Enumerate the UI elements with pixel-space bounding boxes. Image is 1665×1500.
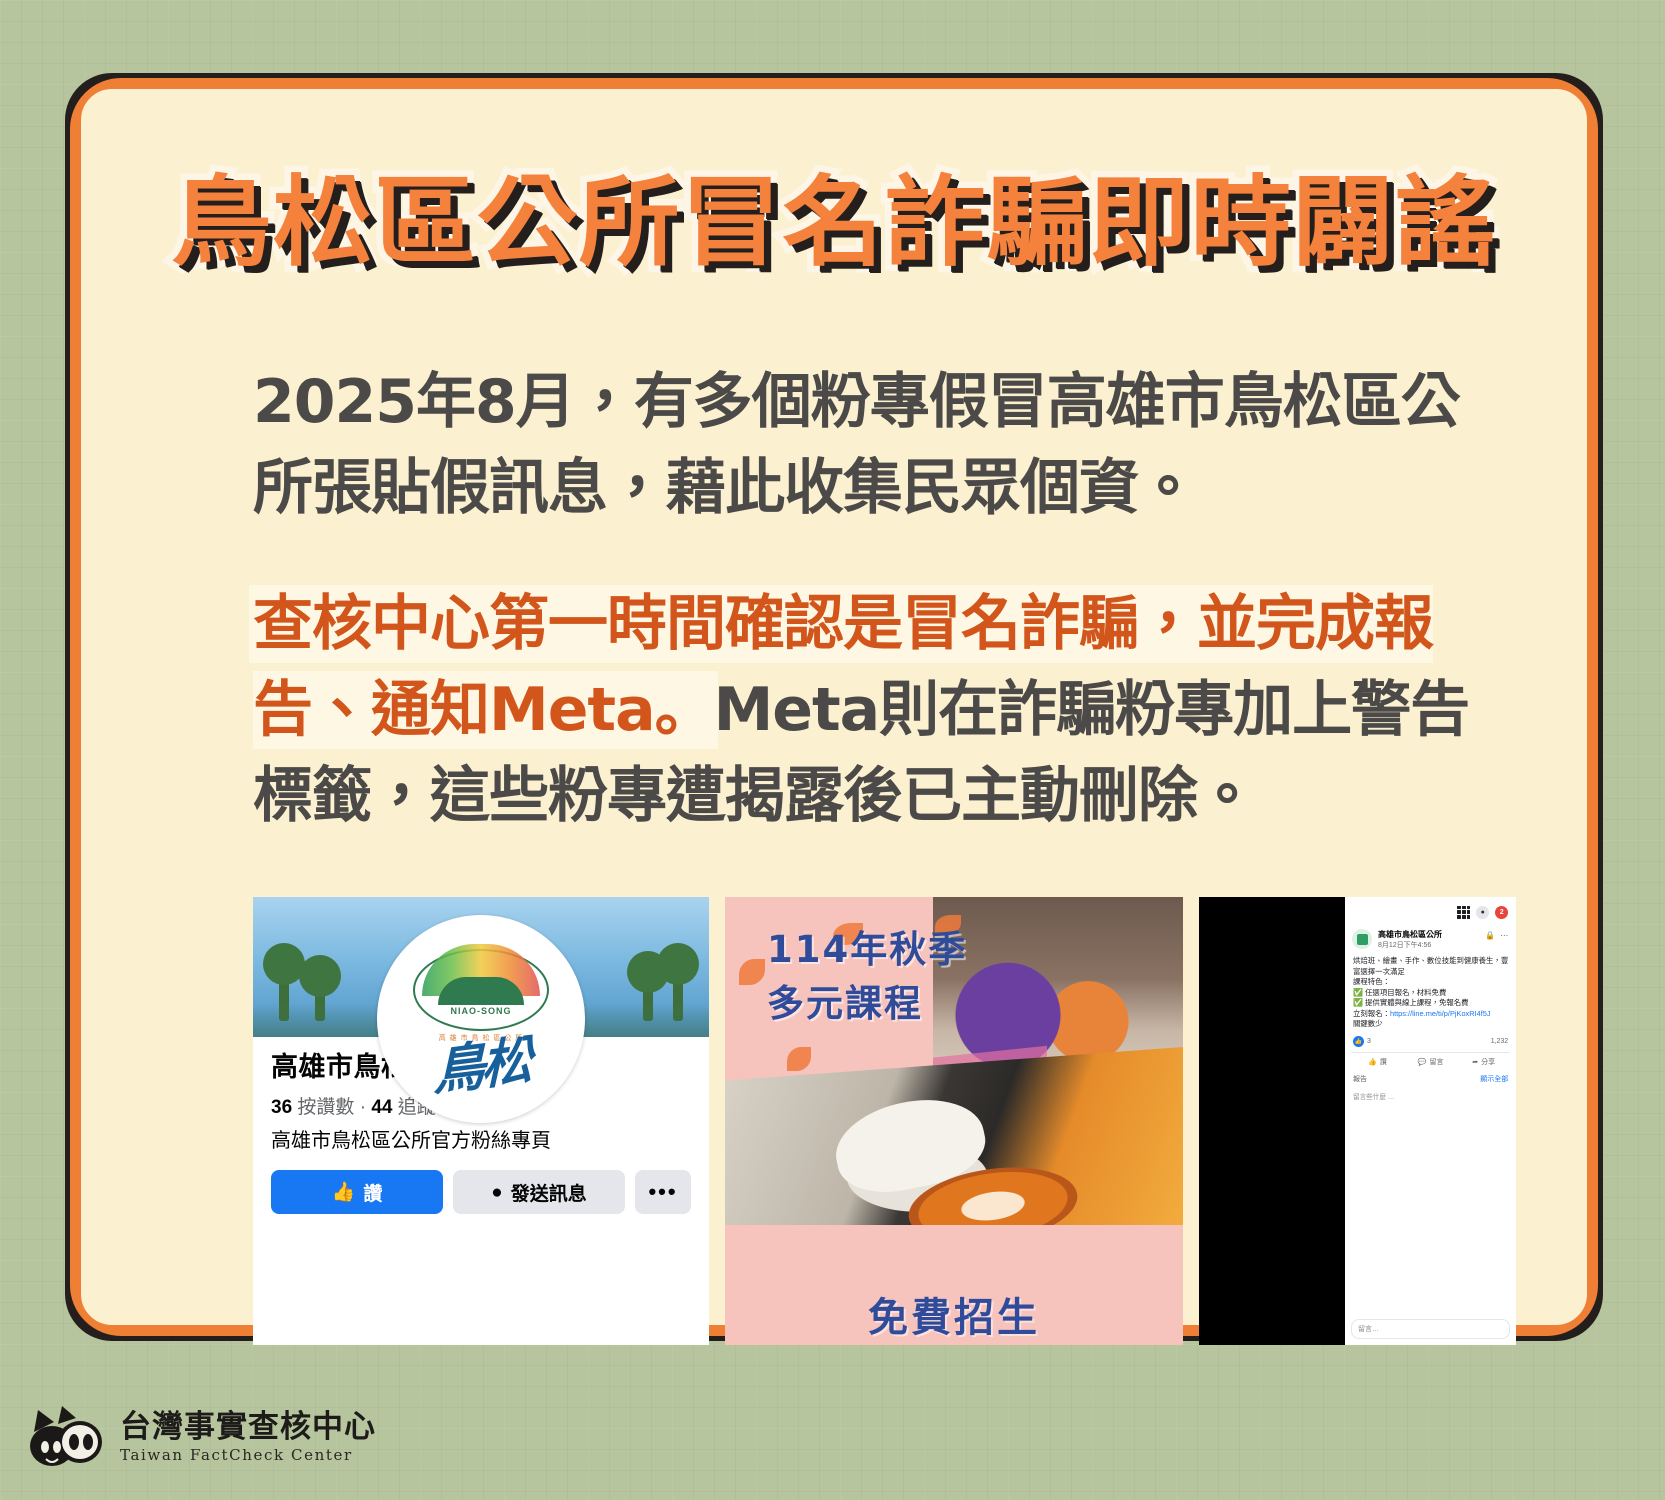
message-button[interactable]: ● 發送訊息 — [453, 1170, 625, 1214]
post-like-label: 讚 — [1380, 1057, 1387, 1067]
post-author-name[interactable]: 高雄市鳥松區公所 — [1378, 929, 1442, 940]
post-body: 烘焙班、繪畫、手作、數位技能到健康養生，豐 富選擇一次滿足 課程特色： ✅ 任選… — [1345, 951, 1516, 1030]
comment-prompt[interactable]: 留言些什麼 … — [1353, 1091, 1508, 1101]
check-icon: ✅ — [1353, 988, 1363, 997]
post-header: 高雄市鳥松區公所 8月12日下午4:56 🔒 ⋯ — [1345, 923, 1516, 951]
post-line-1: 烘焙班、繪畫、手作、數位技能到健康養生，豐 — [1353, 956, 1508, 967]
reaction-like-icon: 👍 — [1353, 1036, 1364, 1047]
followers-count: 44 — [371, 1097, 392, 1118]
poster-title: 114年秋季 多元課程 — [767, 923, 967, 1031]
post-reaction-row: 👍 3 1,232 — [1345, 1030, 1516, 1047]
post-bullet-2-label: 提供實體與線上課程，免報名費 — [1365, 998, 1468, 1007]
post-share-action[interactable]: ➦分享 — [1457, 1057, 1510, 1067]
avatar: NIAO-SONG 高 雄 市 鳥 松 區 公 所 鳥松 — [377, 915, 585, 1123]
post-bullet-2: ✅ 提供實體與線上課程，免報名費 — [1353, 998, 1508, 1009]
post-bullet-1-label: 任選項目報名，材料免費 — [1365, 988, 1446, 997]
post-header-actions: 🔒 ⋯ — [1485, 929, 1508, 940]
body-copy: 2025年8月，有多個粉專假冒高雄市鳥松區公所張貼假訊息，藉此收集民眾個資。 查… — [253, 359, 1511, 875]
post-timestamp: 8月12日下午4:56 — [1378, 941, 1442, 951]
niao-song-logo-icon: NIAO-SONG — [413, 949, 549, 1031]
post-author-block: 高雄市鳥松區公所 8月12日下午4:56 — [1378, 929, 1442, 951]
course-poster-image: 114年秋季 多元課程 免費招生 — [725, 897, 1183, 1345]
post-footer-label: 報告 — [1353, 1074, 1367, 1084]
grid-menu-icon[interactable] — [1457, 906, 1470, 919]
share-icon: ➦ — [1472, 1058, 1478, 1066]
phone-top-bar: ● 2 — [1345, 897, 1516, 923]
title-banner: 鳥松區公所冒名詐騙即時闢謠 — [81, 171, 1587, 291]
phone-screen: ● 2 高雄市鳥松區公所 8月12日下午4:56 🔒 ⋯ 烘焙班、繪畫、手作、數 — [1345, 897, 1516, 1345]
comment-bubble-icon: 💬 — [1418, 1058, 1427, 1066]
brand-name-cn: 台灣事實查核中心 — [120, 1410, 376, 1444]
more-options-button[interactable]: ••• — [635, 1170, 691, 1214]
paragraph-one: 2025年8月，有多個粉專假冒高雄市鳥松區公所張貼假訊息，藉此收集民眾個資。 — [253, 359, 1511, 531]
info-card: 鳥松區公所冒名詐騙即時闢謠 2025年8月，有多個粉專假冒高雄市鳥松區公所張貼假… — [70, 78, 1598, 1336]
post-footer: 報告 顯示全部 留言些什麼 … — [1345, 1067, 1516, 1101]
reaction-count[interactable]: 3 — [1367, 1038, 1371, 1045]
brand-text-block: 台灣事實查核中心 Taiwan FactCheck Center — [120, 1410, 376, 1470]
comment-input[interactable]: 留言… — [1351, 1319, 1510, 1339]
post-line-2: 富選擇一次滿足 — [1353, 967, 1508, 978]
likes-label: 按讚數 — [297, 1097, 354, 1118]
message-button-label: 發送訊息 — [511, 1179, 587, 1206]
post-action-bar: 👍讚 💬留言 ➦分享 — [1351, 1052, 1510, 1067]
poster-title-line2: 多元課程 — [767, 977, 967, 1031]
post-comment-label: 留言 — [1429, 1057, 1443, 1067]
post-link-url[interactable]: https://line.me/ti/p/PjKoxRI4f5J — [1390, 1009, 1491, 1018]
cat-logo-icon — [28, 1402, 106, 1470]
screenshot-row: NIAO-SONG 高 雄 市 鳥 松 區 公 所 鳥松 高雄市鳥松區公所 36… — [253, 897, 1481, 1345]
post-footer-link[interactable]: 顯示全部 — [1480, 1074, 1508, 1084]
post-footer-row: 報告 顯示全部 — [1353, 1074, 1508, 1084]
brush-calligraphy-text: 鳥松 — [433, 1033, 529, 1101]
lock-icon: 🔒 — [1485, 931, 1495, 940]
page-title: 鳥松區公所冒名詐騙即時闢謠 — [171, 171, 1497, 275]
post-like-action[interactable]: 👍讚 — [1351, 1057, 1404, 1067]
notification-badge[interactable]: 2 — [1495, 906, 1508, 919]
paragraph-two: 查核中心第一時間確認是冒名詐騙，並完成報告、通知Meta。Meta則在詐騙粉專加… — [253, 581, 1511, 839]
page-description: 高雄市鳥松區公所官方粉絲專頁 — [271, 1128, 691, 1154]
brand-footer: 台灣事實查核中心 Taiwan FactCheck Center — [28, 1402, 376, 1470]
page-action-buttons: 👍 讚 ● 發送訊息 ••• — [253, 1154, 709, 1214]
post-bullet-1: ✅ 任選項目報名，材料免費 — [1353, 988, 1508, 999]
likes-count: 36 — [271, 1097, 292, 1118]
poster-title-line1: 114年秋季 — [767, 923, 967, 977]
phone-post-screenshot: ● 2 高雄市鳥松區公所 8月12日下午4:56 🔒 ⋯ 烘焙班、繪畫、手作、數 — [1199, 897, 1516, 1345]
messenger-icon[interactable]: ● — [1476, 906, 1489, 919]
thumbs-up-icon: 👍 — [1368, 1058, 1377, 1066]
check-icon: ✅ — [1353, 998, 1363, 1007]
stats-separator: · — [360, 1097, 366, 1118]
post-link-row: 立刻報名：https://line.me/ti/p/PjKoxRI4f5J — [1353, 1009, 1508, 1020]
black-letterbox — [1199, 897, 1345, 1345]
like-button-label: 讚 — [363, 1179, 382, 1206]
like-button[interactable]: 👍 讚 — [271, 1170, 443, 1214]
post-avatar[interactable] — [1352, 929, 1372, 949]
views-count: 1,232 — [1491, 1038, 1509, 1045]
facebook-page-screenshot: NIAO-SONG 高 雄 市 鳥 松 區 公 所 鳥松 高雄市鳥松區公所 36… — [253, 897, 709, 1345]
post-share-label: 分享 — [1481, 1057, 1495, 1067]
messenger-icon: ● — [491, 1183, 502, 1202]
poster-bottom-title: 免費招生 — [868, 1285, 1040, 1343]
badge-name-text: NIAO-SONG — [450, 1006, 511, 1016]
brand-name-en: Taiwan FactCheck Center — [120, 1446, 376, 1464]
post-more-icon[interactable]: ⋯ — [1500, 931, 1508, 940]
post-comment-action[interactable]: 💬留言 — [1404, 1057, 1457, 1067]
post-hashtag: 關鍵數少 — [1353, 1019, 1508, 1030]
thumbs-up-icon: 👍 — [332, 1183, 356, 1202]
post-link-label: 立刻報名： — [1353, 1009, 1390, 1018]
post-line-3: 課程特色： — [1353, 977, 1508, 988]
